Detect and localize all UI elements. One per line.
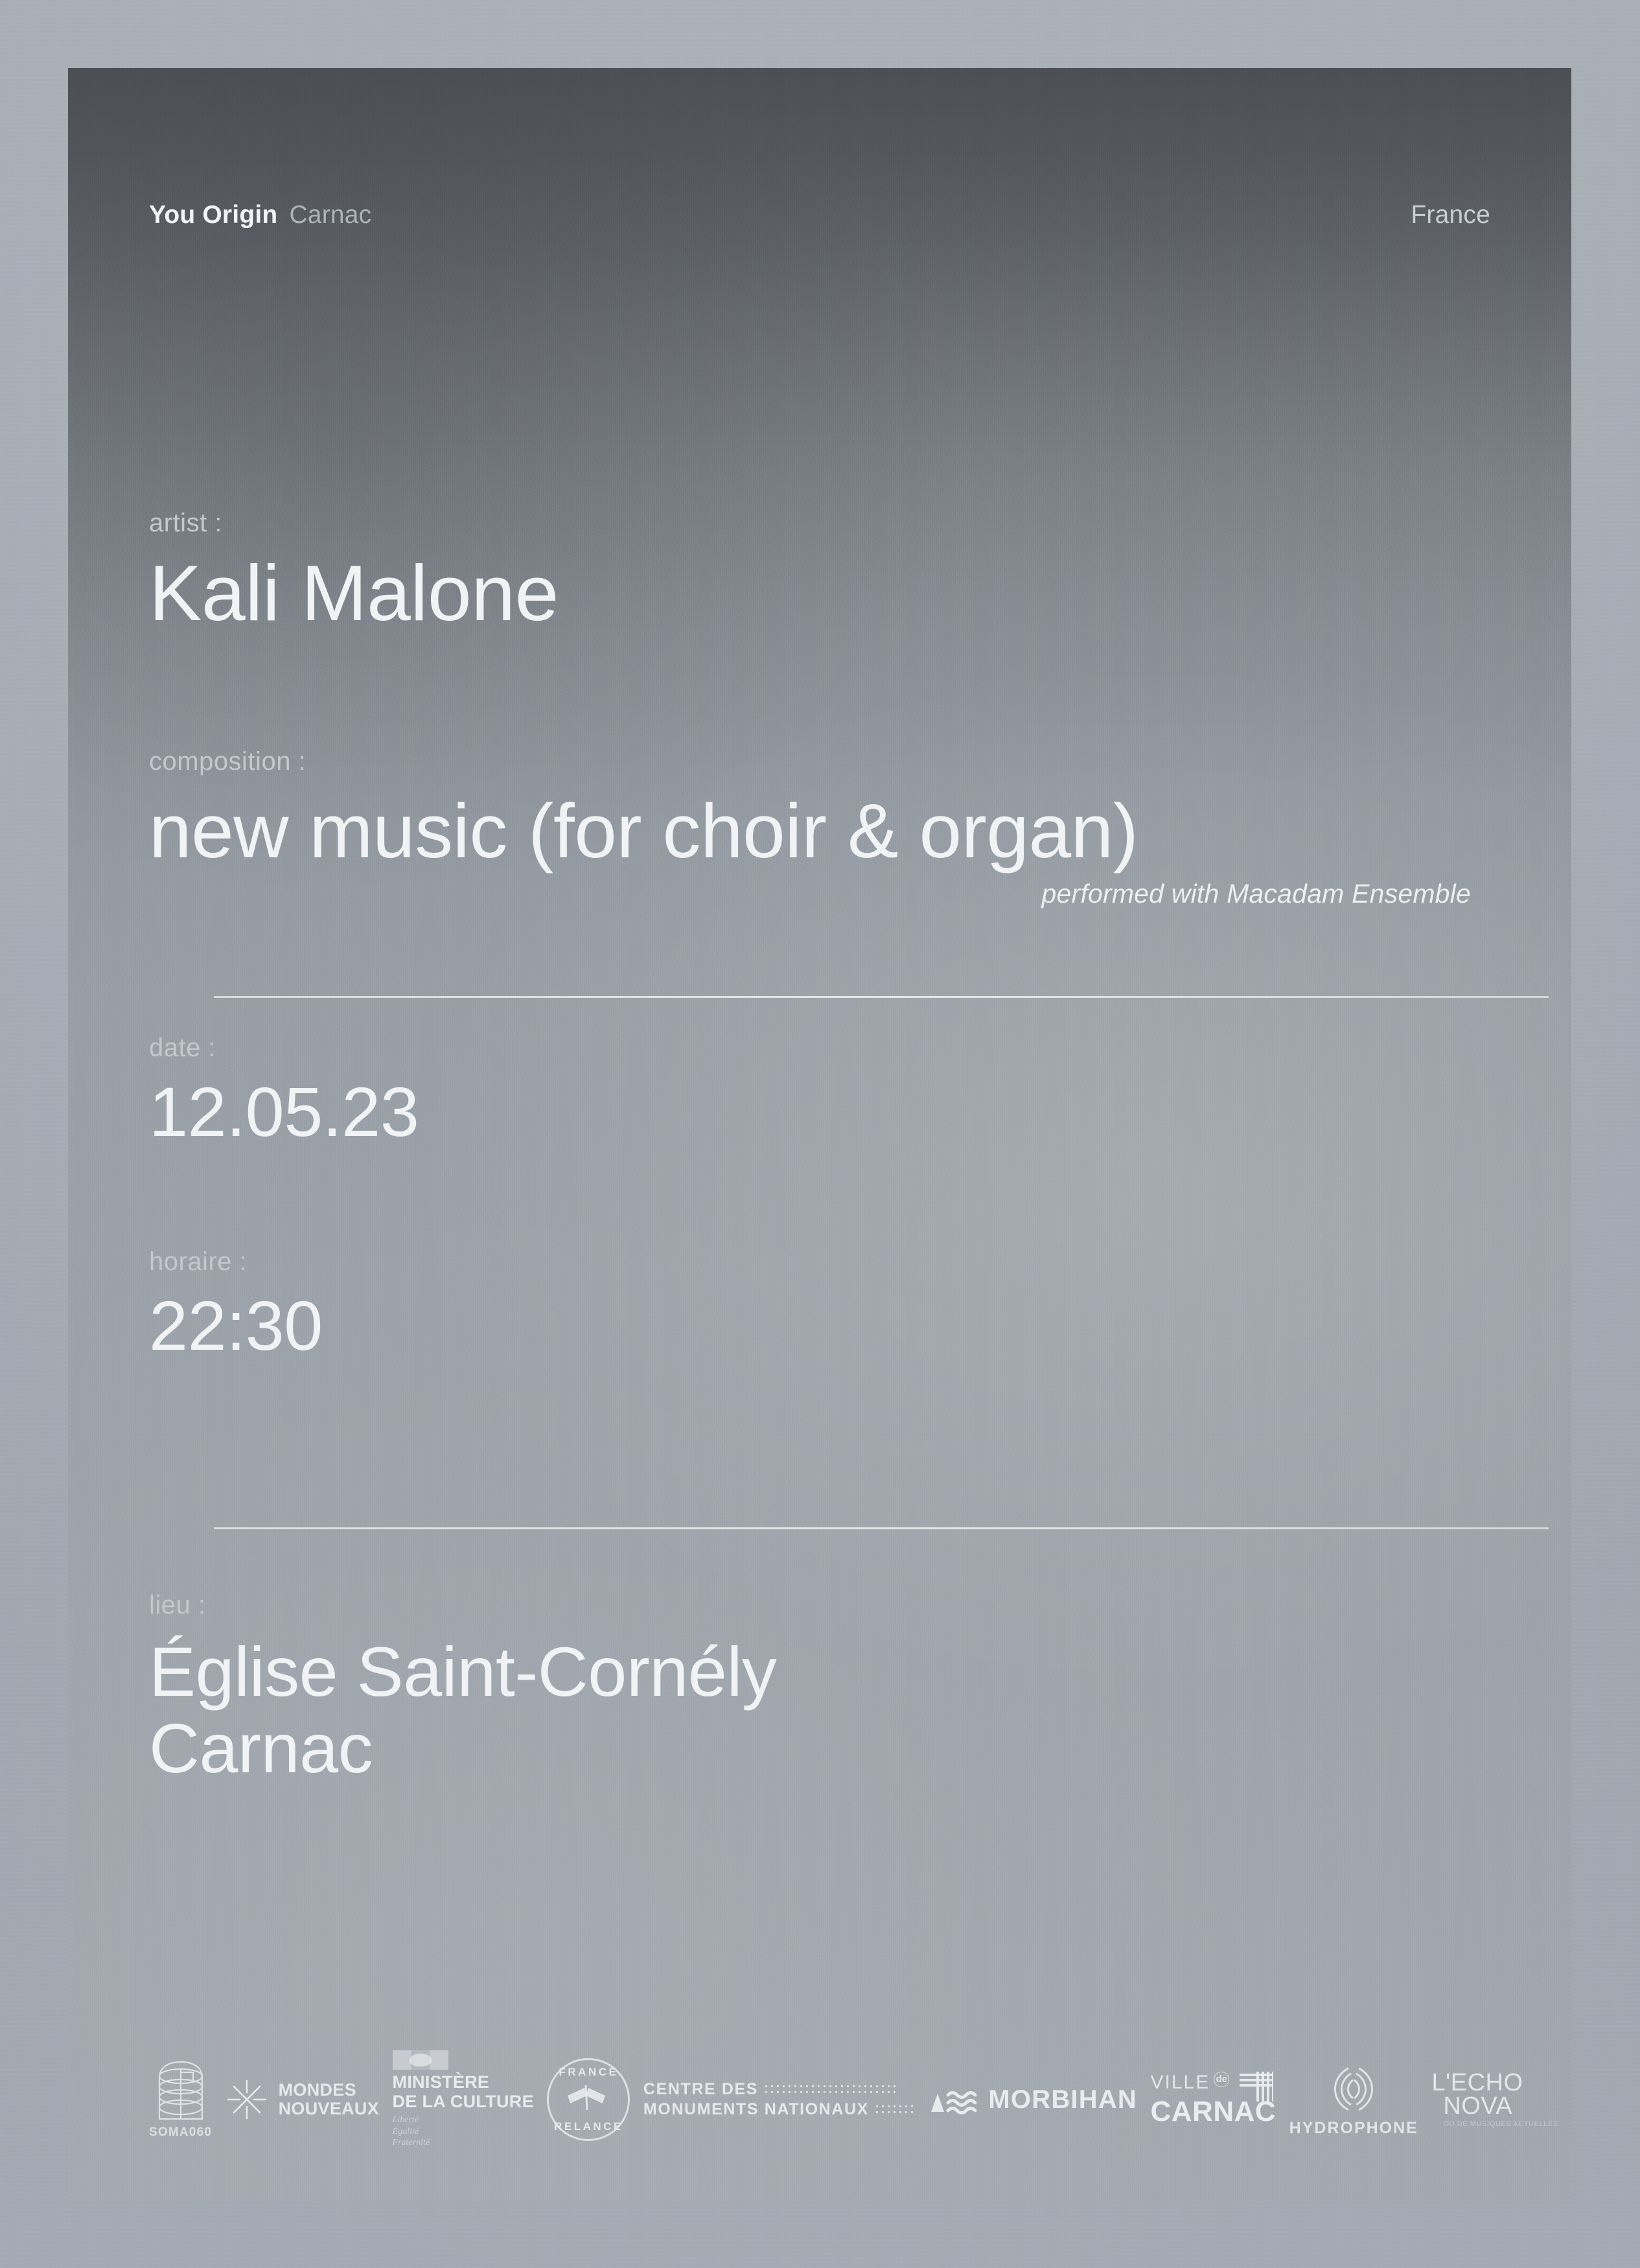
venue-block: lieu : Église Saint-Cornély Carnac xyxy=(149,1591,776,1783)
france-relance-bottom: RELANCE xyxy=(549,2120,628,2133)
composition-block: composition : new music (for choir & org… xyxy=(149,747,1490,909)
cmn-line2: MONUMENTS NATIONAUX xyxy=(643,2100,869,2118)
date-value: 12.05.23 xyxy=(149,1077,419,1147)
de-badge: de xyxy=(1214,2072,1229,2087)
ministere-line2: DE LA CULTURE xyxy=(393,2092,534,2111)
artist-name: Kali Malone xyxy=(149,553,559,632)
cmn-dot-pattern-icon xyxy=(763,2083,899,2096)
header-left-group: You Origin Carnac xyxy=(149,201,371,229)
composition-label: composition : xyxy=(149,747,1490,776)
logo-hydrophone: HYDROPHONE xyxy=(1289,2062,1418,2138)
composition-title: new music (for choir & organ) xyxy=(149,793,1490,870)
soma-caption: SOMA060 xyxy=(149,2125,212,2140)
logo-mondes-nouveaux: MONDES NOUVEAUX xyxy=(225,2078,379,2121)
mondes-line1: MONDES xyxy=(279,2080,356,2100)
date-label: date : xyxy=(149,1034,419,1063)
venue-name: Église Saint-Cornély xyxy=(149,1637,776,1707)
logo-france-relance: FRANCE RELANCE xyxy=(547,2058,630,2141)
brand-name: You Origin xyxy=(149,201,277,229)
hydrophone-label: HYDROPHONE xyxy=(1289,2119,1418,2138)
carnac-label: CARNAC xyxy=(1151,2096,1276,2128)
ville-label: VILLE xyxy=(1151,2072,1210,2094)
logo-centre-monuments-nationaux: CENTRE DES MONUMENTS NATIONAUX xyxy=(643,2079,914,2120)
marianne-flag-icon xyxy=(393,2050,448,2070)
time-value: 22:30 xyxy=(149,1291,323,1361)
artist-block: artist : Kali Malone xyxy=(149,509,559,632)
time-block: horaire : 22:30 xyxy=(149,1247,323,1361)
morbihan-wave-icon xyxy=(927,2082,978,2117)
backing-board: You Origin Carnac France artist : Kali M… xyxy=(0,0,1640,2268)
composition-performers: performed with Macadam Ensemble xyxy=(149,879,1471,909)
time-label: horaire : xyxy=(149,1247,323,1277)
cmn-dot-pattern-icon-2 xyxy=(874,2103,914,2116)
logo-echo-nova: L'ECHO NOVA OU DE MUSIQUES ACTUELLES xyxy=(1431,2071,1558,2128)
date-block: date : 12.05.23 xyxy=(149,1034,419,1147)
cmn-text: CENTRE DES MONUMENTS NATIONAUX xyxy=(643,2079,914,2120)
partner-logo-strip: SOMA060 MON xyxy=(149,2025,1558,2174)
echo-tagline: OU DE MUSIQUES ACTUELLES xyxy=(1443,2120,1558,2128)
logo-ministere-culture: MINISTÈRE DE LA CULTURE Liberté Égalité … xyxy=(393,2050,534,2149)
mondes-nouveaux-text: MONDES NOUVEAUX xyxy=(279,2081,379,2118)
header-country: France xyxy=(1411,201,1490,229)
poster-header: You Origin Carnac France xyxy=(149,201,1490,229)
divider-rule-top xyxy=(214,996,1549,998)
mondes-line2: NOUVEAUX xyxy=(279,2099,379,2118)
ministere-title: MINISTÈRE DE LA CULTURE xyxy=(393,2073,534,2111)
logo-soma060: SOMA060 xyxy=(149,2059,212,2140)
logo-ville-de-carnac: VILLE de CARNAC xyxy=(1151,2072,1276,2128)
venue-label: lieu : xyxy=(149,1591,776,1620)
hydrophone-soundwave-icon xyxy=(1322,2062,1385,2116)
venue-city: Carnac xyxy=(149,1713,776,1783)
cmn-line1: CENTRE DES xyxy=(643,2080,758,2098)
devise-liberte: Liberté xyxy=(393,2115,419,2125)
ministere-line1: MINISTÈRE xyxy=(393,2072,490,2092)
artist-label: artist : xyxy=(149,509,559,538)
logo-morbihan: MORBIHAN xyxy=(927,2082,1137,2117)
concert-poster: You Origin Carnac France artist : Kali M… xyxy=(68,68,1571,2200)
echo-line1: L'ECHO xyxy=(1431,2071,1523,2094)
echo-line2: NOVA xyxy=(1443,2094,1512,2118)
devise-fraternite: Fraternité xyxy=(393,2138,430,2147)
brand-city: Carnac xyxy=(289,201,371,229)
france-relance-stamp-icon: FRANCE RELANCE xyxy=(547,2058,630,2141)
soma-arch-icon xyxy=(157,2059,205,2122)
asterisk-star-icon xyxy=(225,2078,268,2121)
divider-rule-bottom xyxy=(214,1527,1549,1529)
ministere-devise: Liberté Égalité Fraternité xyxy=(393,2114,430,2149)
devise-egalite: Égalité xyxy=(393,2127,419,2136)
morbihan-label: MORBIHAN xyxy=(988,2085,1137,2114)
